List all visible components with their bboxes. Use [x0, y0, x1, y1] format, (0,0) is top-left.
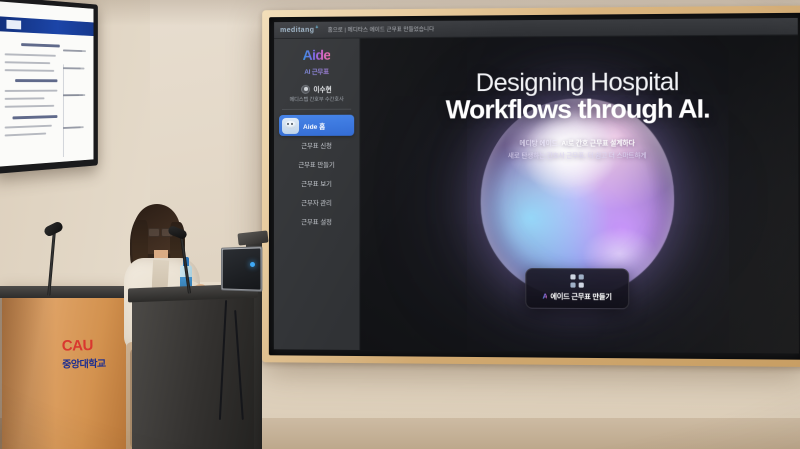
sidebar-item-view-schedule[interactable]: 근무표 보기	[274, 174, 359, 193]
subtitle-emphasis: AI로 간호 근무표 설계하다	[561, 140, 634, 147]
slide-canvas: Designing Hospital Workflows through AI.…	[360, 35, 799, 353]
document-body	[0, 34, 93, 166]
side-monitor-screen	[0, 1, 93, 166]
user-profile[interactable]: 이수현	[274, 84, 359, 94]
breadcrumb: 홈으로 | 메디타스 에이드 근무표 만들었습니다	[328, 25, 434, 34]
aide-logo-mark: A	[543, 293, 548, 300]
user-name: 이수현	[313, 84, 331, 94]
aide-tagline: AI 근무표	[274, 67, 359, 76]
document-header-bar	[0, 16, 93, 36]
cau-logo-text: CAU	[62, 337, 93, 355]
laptop	[221, 246, 262, 292]
slide-subtitle-line1: 메디탕 에이드, AI로 간호 근무표 설계하다	[360, 137, 798, 148]
sidebar-divider	[282, 109, 351, 110]
slide-subtitle-line2: 새로 탄생하는 간호사 근무표, 더 쉽고 더 스마트하게	[360, 150, 798, 160]
presentation-room-scene: meditang + 홈으로 | 메디타스 에이드 근무표 만들었습니다 Aid…	[0, 0, 800, 449]
four-square-grid-icon	[570, 274, 583, 287]
sidebar-item-label: Aide 홈	[303, 120, 325, 130]
sidebar-item-label: 근무자 관리	[301, 198, 332, 207]
status-led-indicator	[250, 262, 255, 267]
user-avatar-icon	[301, 84, 310, 93]
sidebar-item-aide-home[interactable]: Aide 홈	[279, 115, 354, 136]
mascot-icon	[282, 117, 299, 133]
presentation-screen-bezel: meditang + 홈으로 | 메디타스 에이드 근무표 만들었습니다 Aid…	[269, 13, 800, 360]
user-role: 메디스텝 간호부 수간호사	[274, 96, 359, 103]
brand-superscript: +	[315, 25, 318, 31]
presentation-screen-frame: meditang + 홈으로 | 메디타스 에이드 근무표 만들었습니다 Aid…	[262, 6, 800, 367]
app-body: Aide AI 근무표 이수현 메디스텝 간호부 수간호사 Aide 홈	[274, 35, 799, 353]
slide-headline-block: Designing Hospital Workflows through AI.…	[360, 68, 798, 160]
slide-title-line2: Workflows through AI.	[360, 94, 798, 124]
sidebar-item-create-schedule[interactable]: 근무표 만들기	[274, 155, 359, 174]
sidebar-item-label: 근무표 만들기	[298, 160, 334, 169]
subtitle-prefix: 메디탕 에이드,	[519, 140, 561, 147]
create-schedule-cta-button[interactable]: A 에이드 근무표 만들기	[525, 268, 629, 309]
sidebar-item-label: 근무표 신청	[301, 141, 332, 150]
sidebar-item-request-schedule[interactable]: 근무표 신청	[274, 136, 359, 155]
sidebar-item-label: 근무표 설정	[301, 217, 332, 226]
cta-label: 에이드 근무표 만들기	[550, 292, 611, 303]
meditang-brand-logo[interactable]: meditang +	[280, 26, 319, 33]
sidebar: Aide AI 근무표 이수현 메디스텝 간호부 수간호사 Aide 홈	[274, 38, 360, 350]
presentation-screen: meditang + 홈으로 | 메디타스 에이드 근무표 만들었습니다 Aid…	[274, 18, 799, 354]
laptop-screen	[223, 248, 261, 289]
side-monitor	[0, 0, 98, 174]
sidebar-item-manage-staff[interactable]: 근무자 관리	[274, 193, 359, 212]
aide-wordmark: Aide	[303, 48, 331, 62]
cta-content: A 에이드 근무표 만들기	[526, 291, 628, 302]
brand-name: meditang	[280, 26, 314, 33]
sidebar-logo[interactable]: Aide AI 근무표	[274, 44, 359, 81]
sidebar-item-label: 근무표 보기	[301, 179, 332, 188]
sidebar-item-schedule-settings[interactable]: 근무표 설정	[274, 212, 359, 231]
